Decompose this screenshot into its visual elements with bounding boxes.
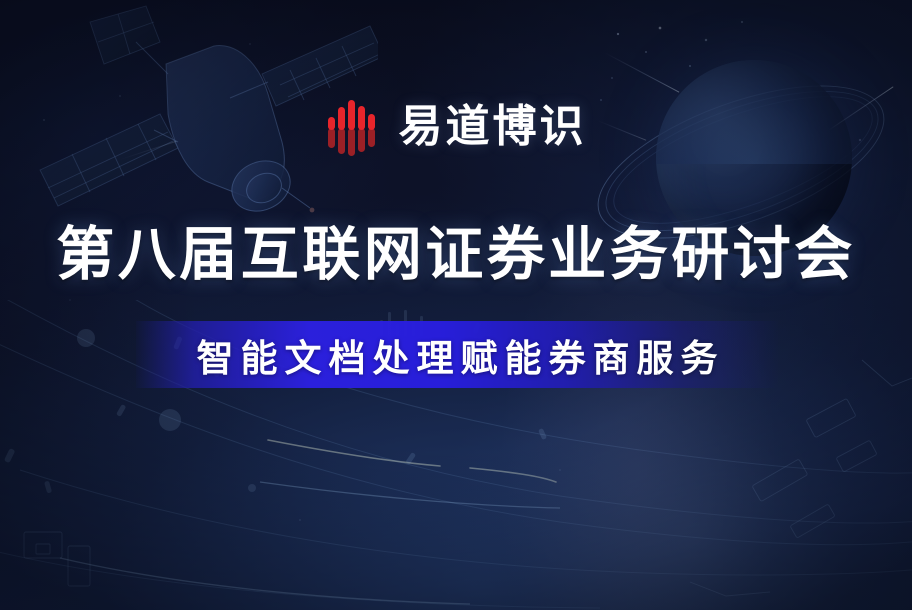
waveform-bars-icon bbox=[326, 98, 382, 156]
page-title: 第八届互联网证券业务研讨会 bbox=[0, 221, 912, 288]
brand-lockup: 易道博识 bbox=[0, 98, 912, 156]
poster-content: 易道博识 第八届互联网证券业务研讨会 智能文档处理赋能券商服务 bbox=[0, 0, 912, 610]
conference-poster: 易道博识 第八届互联网证券业务研讨会 智能文档处理赋能券商服务 bbox=[0, 0, 912, 610]
brand-name: 易道博识 bbox=[399, 105, 587, 149]
subtitle-text: 智能文档处理赋能券商服务 bbox=[136, 321, 778, 388]
